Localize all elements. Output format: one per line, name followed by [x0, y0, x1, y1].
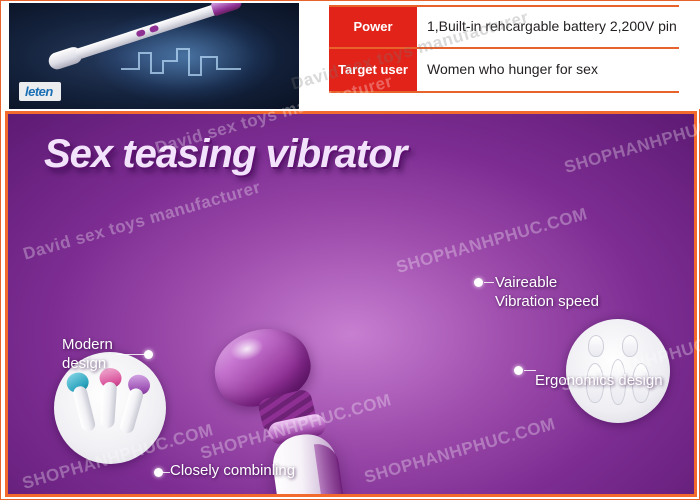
callout-variable-speed-line1: Vaireable: [495, 274, 599, 293]
mini-wand-teal-body: [72, 385, 97, 433]
callout-ergonomics-line1: Ergonomics design: [535, 372, 663, 391]
callout-modern-design-line2: design: [62, 355, 113, 374]
product-button-1: [299, 496, 331, 497]
mini-wand-pink-body: [100, 382, 117, 429]
spec-label-power: Power: [329, 7, 417, 47]
callout-dot-variable-speed: [474, 278, 483, 287]
callout-ergonomics: Ergonomics design: [535, 372, 663, 391]
callout-leader-ergonomics: [524, 370, 536, 371]
callout-dot-ergonomics: [514, 366, 523, 375]
callout-closely-combining-line1: Closely combinling: [170, 462, 295, 481]
callout-leader-modern-design: [116, 354, 144, 355]
spec-row-target-user: Target user Women who hunger for sex: [329, 49, 679, 93]
callout-variable-speed-line2: Vibration speed: [495, 293, 599, 312]
spec-value-target-user: Women who hunger for sex: [417, 49, 679, 91]
mini-wand-purple: [119, 377, 148, 435]
top-section: leten Power 1,Built-in rehcargable batte…: [1, 1, 700, 109]
mini-wand-purple-body: [119, 387, 145, 435]
main-promo-panel: Sex teasing vibrator: [5, 111, 697, 497]
product-body-stripe: [314, 441, 360, 497]
callout-dot-modern-design: [144, 350, 153, 359]
product-photo: leten: [9, 3, 299, 109]
page-title: Sex teasing vibrator: [44, 132, 406, 177]
brand-logo: leten: [19, 82, 61, 101]
mini-wand-pink: [100, 372, 118, 429]
inset-ergonomics: [566, 319, 670, 423]
spec-table: Power 1,Built-in rehcargable battery 2,2…: [329, 5, 679, 109]
vib-blob-2: [622, 335, 638, 357]
mini-wand-teal: [69, 375, 96, 433]
spec-row-power: Power 1,Built-in rehcargable battery 2,2…: [329, 5, 679, 49]
waveform-graphic: [121, 43, 241, 83]
spec-value-power: 1,Built-in rehcargable battery 2,200V pi…: [417, 7, 679, 47]
callout-closely-combining: Closely combinling: [170, 462, 295, 481]
callout-modern-design: Modern design: [62, 336, 113, 374]
spec-label-target-user: Target user: [329, 49, 417, 91]
vib-blob-1: [588, 335, 604, 357]
callout-leader-closely-combining: [160, 472, 170, 473]
page-root: leten Power 1,Built-in rehcargable batte…: [0, 0, 700, 500]
callout-modern-design-line1: Modern: [62, 336, 113, 355]
callout-variable-speed: Vaireable Vibration speed: [495, 274, 599, 312]
callout-leader-variable-speed: [484, 282, 494, 283]
